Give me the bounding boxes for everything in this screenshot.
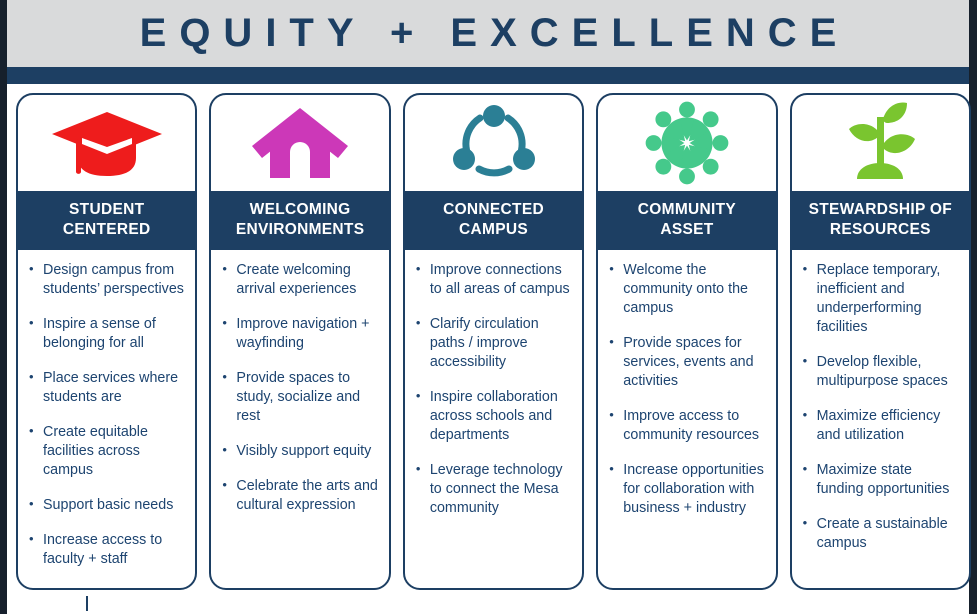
pillar-body-connected-campus: Improve connections to all areas of camp… bbox=[405, 250, 582, 588]
list-item: Create welcoming arrival experiences bbox=[221, 261, 378, 299]
pillar-title-line-2: CENTERED bbox=[63, 221, 151, 238]
list-item: Celebrate the arts and cultural expressi… bbox=[221, 477, 378, 515]
pillar-title-student-centered: STUDENT CENTERED bbox=[18, 191, 195, 250]
pillar-title-line-1: WELCOMING bbox=[250, 201, 351, 218]
pillar-title-community-asset: COMMUNITY ASSET bbox=[598, 191, 775, 250]
list-item: Leverage technology to connect the Mesa … bbox=[415, 461, 572, 518]
network-nodes-icon bbox=[405, 95, 582, 191]
list-item: Place services where students are bbox=[28, 369, 185, 407]
header-accent-rule bbox=[7, 67, 969, 84]
pillar-card-row: STUDENT CENTERED Design campus from stud… bbox=[16, 93, 969, 590]
header-banner: EQUITY + EXCELLENCE bbox=[7, 0, 969, 67]
pillar-title-line-1: STUDENT bbox=[69, 201, 144, 218]
list-item: Provide spaces to study, socialize and r… bbox=[221, 369, 378, 426]
list-item: Welcome the community onto the campus bbox=[608, 261, 765, 318]
pillar-card-welcoming-environments[interactable]: WELCOMING ENVIRONMENTS Create welcoming … bbox=[209, 93, 390, 590]
bullet-list: Welcome the community onto the campus Pr… bbox=[608, 261, 765, 518]
pillar-title-welcoming-environments: WELCOMING ENVIRONMENTS bbox=[211, 191, 388, 250]
list-item: Inspire collaboration across schools and… bbox=[415, 388, 572, 445]
list-item: Create a sustainable campus bbox=[802, 515, 959, 553]
pillar-title-line-2: RESOURCES bbox=[830, 221, 931, 238]
pillar-title-line-1: CONNECTED bbox=[443, 201, 544, 218]
list-item: Inspire a sense of belonging for all bbox=[28, 315, 185, 353]
list-item: Improve navigation + wayfinding bbox=[221, 315, 378, 353]
list-item: Maximize state funding opportunities bbox=[802, 461, 959, 499]
list-item: Maximize efficiency and utilization bbox=[802, 407, 959, 445]
people-circle-icon bbox=[598, 95, 775, 191]
pillar-card-community-asset[interactable]: COMMUNITY ASSET Welcome the community on… bbox=[596, 93, 777, 590]
pillar-card-connected-campus[interactable]: CONNECTED CAMPUS Improve connections to … bbox=[403, 93, 584, 590]
list-item: Replace temporary, inefficient and under… bbox=[802, 261, 959, 337]
pillar-title-line-1: COMMUNITY bbox=[638, 201, 736, 218]
list-item: Increase opportunities for collaboration… bbox=[608, 461, 765, 518]
pillar-title-line-1: STEWARDSHIP OF bbox=[809, 201, 952, 218]
list-item: Provide spaces for services, events and … bbox=[608, 334, 765, 391]
list-item: Improve access to community resources bbox=[608, 407, 765, 445]
bullet-list: Create welcoming arrival experiences Imp… bbox=[221, 261, 378, 515]
page-tick-mark bbox=[86, 596, 88, 611]
list-item: Create equitable facilities across campu… bbox=[28, 423, 185, 480]
bullet-list: Improve connections to all areas of camp… bbox=[415, 261, 572, 518]
pillar-title-line-2: ASSET bbox=[660, 221, 713, 238]
pillar-title-stewardship-of-resources: STEWARDSHIP OF RESOURCES bbox=[792, 191, 969, 250]
list-item: Design campus from students’ perspective… bbox=[28, 261, 185, 299]
pillar-title-connected-campus: CONNECTED CAMPUS bbox=[405, 191, 582, 250]
pillar-body-welcoming-environments: Create welcoming arrival experiences Imp… bbox=[211, 250, 388, 588]
list-item: Support basic needs bbox=[28, 496, 185, 515]
pillar-card-stewardship-of-resources[interactable]: STEWARDSHIP OF RESOURCES Replace tempora… bbox=[790, 93, 971, 590]
bullet-list: Replace temporary, inefficient and under… bbox=[802, 261, 959, 553]
list-item: Visibly support equity bbox=[221, 442, 378, 461]
house-icon bbox=[211, 95, 388, 191]
pillar-body-student-centered: Design campus from students’ perspective… bbox=[18, 250, 195, 590]
page-title: EQUITY + EXCELLENCE bbox=[127, 11, 850, 56]
list-item: Clarify circulation paths / improve acce… bbox=[415, 315, 572, 372]
bullet-list: Design campus from students’ perspective… bbox=[28, 261, 185, 569]
pillar-card-student-centered[interactable]: STUDENT CENTERED Design campus from stud… bbox=[16, 93, 197, 590]
infographic-page: EQUITY + EXCELLENCE STUDENT CENTERED Des… bbox=[0, 0, 977, 614]
pillar-title-line-2: ENVIRONMENTS bbox=[236, 221, 364, 238]
pillar-title-line-2: CAMPUS bbox=[459, 221, 528, 238]
pillar-body-community-asset: Welcome the community onto the campus Pr… bbox=[598, 250, 775, 588]
pillar-body-stewardship-of-resources: Replace temporary, inefficient and under… bbox=[792, 250, 969, 588]
list-item: Improve connections to all areas of camp… bbox=[415, 261, 572, 299]
list-item: Increase access to faculty + staff bbox=[28, 531, 185, 569]
seedling-plant-icon bbox=[792, 95, 969, 191]
graduation-cap-icon bbox=[18, 95, 195, 191]
list-item: Develop flexible, multipurpose spaces bbox=[802, 353, 959, 391]
